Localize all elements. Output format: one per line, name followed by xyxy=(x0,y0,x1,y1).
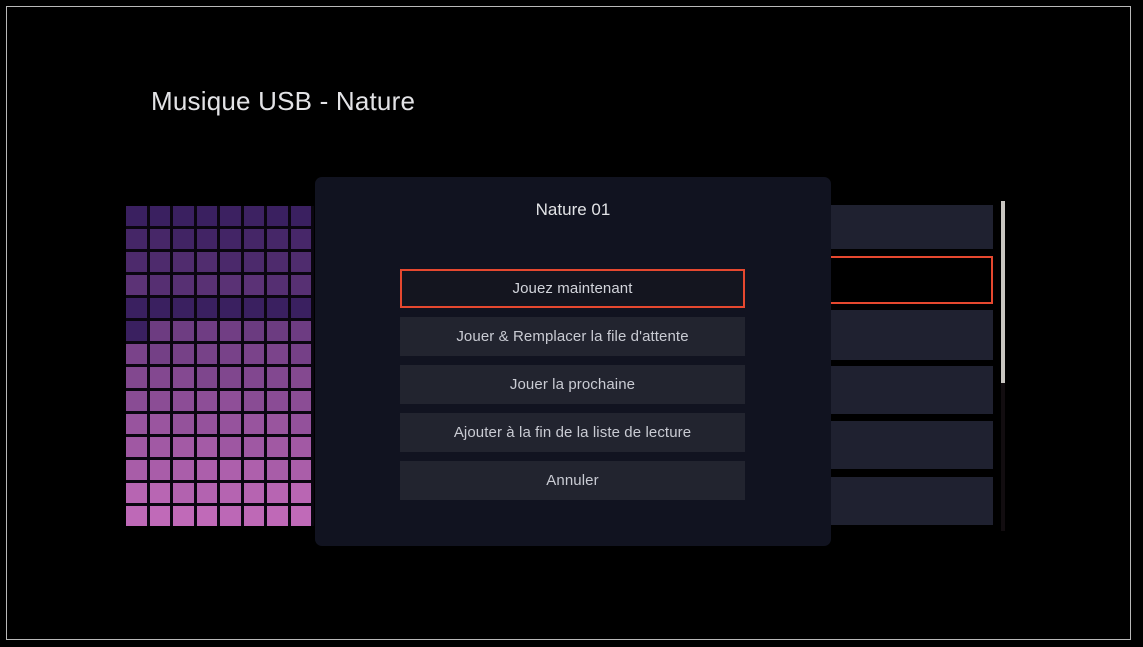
track-action-dialog: Nature 01 Jouez maintenantJouer & Rempla… xyxy=(315,177,831,546)
album-artwork-tile xyxy=(150,367,171,387)
album-artwork-tile xyxy=(244,437,265,457)
album-artwork-tile xyxy=(150,298,171,318)
window-frame-bottom-border xyxy=(7,639,1131,640)
album-artwork-tile xyxy=(173,506,194,526)
album-artwork-tile xyxy=(126,321,147,341)
album-artwork-tile xyxy=(220,321,241,341)
album-artwork-tile xyxy=(126,437,147,457)
album-artwork-tile xyxy=(126,506,147,526)
album-artwork-tile xyxy=(197,229,218,249)
album-artwork-tile xyxy=(220,275,241,295)
album-artwork-tile xyxy=(220,367,241,387)
album-artwork-tile xyxy=(267,298,288,318)
album-artwork-tile xyxy=(244,298,265,318)
album-artwork-tile xyxy=(244,206,265,226)
album-artwork-tile xyxy=(173,460,194,480)
album-artwork-tile xyxy=(197,437,218,457)
page-title: Musique USB - Nature xyxy=(151,86,415,117)
dialog-title: Nature 01 xyxy=(315,200,831,220)
album-artwork-tile xyxy=(220,437,241,457)
album-artwork-tile xyxy=(173,206,194,226)
album-artwork-tile xyxy=(173,437,194,457)
album-artwork-tile xyxy=(267,391,288,411)
album-artwork-tile xyxy=(220,298,241,318)
dialog-action-2[interactable]: Jouer & Remplacer la file d'attente xyxy=(400,317,745,356)
album-artwork-tile xyxy=(220,414,241,434)
album-artwork-tile xyxy=(291,252,312,272)
album-artwork-tile xyxy=(150,344,171,364)
window-frame-top-border xyxy=(7,6,1131,7)
album-artwork-tile xyxy=(267,506,288,526)
track-list-scrollbar-thumb[interactable] xyxy=(1001,201,1005,383)
album-artwork-tile xyxy=(197,367,218,387)
album-artwork-tile xyxy=(220,460,241,480)
album-artwork-tile xyxy=(150,483,171,503)
dialog-action-4[interactable]: Ajouter à la fin de la liste de lecture xyxy=(400,413,745,452)
album-artwork-tile xyxy=(150,321,171,341)
album-artwork-tile xyxy=(126,206,147,226)
album-artwork-tile xyxy=(291,206,312,226)
album-artwork-tile xyxy=(267,229,288,249)
album-artwork-tile xyxy=(291,483,312,503)
album-artwork-tile xyxy=(126,229,147,249)
tv-app-screen: Musique USB - Nature Nature 01 Jouez mai… xyxy=(0,0,1143,647)
album-artwork-tile xyxy=(173,252,194,272)
album-artwork-tile xyxy=(267,460,288,480)
album-artwork-tile xyxy=(150,414,171,434)
album-artwork-tile xyxy=(244,460,265,480)
album-artwork-tile xyxy=(291,367,312,387)
album-artwork-tile xyxy=(244,321,265,341)
album-artwork-tile xyxy=(126,367,147,387)
album-artwork-tile xyxy=(244,367,265,387)
album-artwork-tile xyxy=(244,391,265,411)
album-artwork-tile xyxy=(173,483,194,503)
album-artwork-tile xyxy=(220,506,241,526)
album-artwork-tile xyxy=(173,367,194,387)
album-artwork-tile xyxy=(197,275,218,295)
album-artwork-tile xyxy=(244,275,265,295)
album-artwork-tile xyxy=(173,229,194,249)
album-artwork-tile xyxy=(220,344,241,364)
album-artwork-tile xyxy=(220,206,241,226)
album-artwork-tile xyxy=(197,206,218,226)
album-artwork-tile xyxy=(197,252,218,272)
album-artwork xyxy=(126,206,314,526)
album-artwork-tile xyxy=(220,391,241,411)
album-artwork-tile xyxy=(150,252,171,272)
album-artwork-tile xyxy=(291,506,312,526)
album-artwork-tile xyxy=(126,298,147,318)
album-artwork-tile xyxy=(244,483,265,503)
album-artwork-tile xyxy=(173,298,194,318)
album-artwork-tile xyxy=(267,367,288,387)
dialog-action-list: Jouez maintenantJouer & Remplacer la fil… xyxy=(400,269,745,509)
album-artwork-tile xyxy=(291,414,312,434)
album-artwork-tile xyxy=(291,344,312,364)
dialog-action-1[interactable]: Jouez maintenant xyxy=(400,269,745,308)
album-artwork-tile xyxy=(197,298,218,318)
album-artwork-tile xyxy=(267,344,288,364)
album-artwork-tile xyxy=(267,321,288,341)
album-artwork-tile xyxy=(267,252,288,272)
album-artwork-tile xyxy=(291,460,312,480)
album-artwork-tile xyxy=(197,414,218,434)
album-artwork-tile xyxy=(126,460,147,480)
album-artwork-tile xyxy=(126,483,147,503)
album-artwork-tile xyxy=(173,391,194,411)
album-artwork-tile xyxy=(150,391,171,411)
track-list-scrollbar[interactable] xyxy=(1001,201,1005,531)
album-artwork-tile xyxy=(197,506,218,526)
album-artwork-tile xyxy=(291,275,312,295)
album-artwork-tile xyxy=(267,414,288,434)
album-artwork-tile xyxy=(150,229,171,249)
album-artwork-tile xyxy=(150,206,171,226)
album-artwork-tile xyxy=(150,275,171,295)
album-artwork-tile xyxy=(126,414,147,434)
album-artwork-tile xyxy=(291,391,312,411)
album-artwork-tile xyxy=(291,229,312,249)
album-artwork-tile xyxy=(126,252,147,272)
album-artwork-tile xyxy=(197,391,218,411)
album-artwork-grid xyxy=(126,206,314,526)
dialog-action-3[interactable]: Jouer la prochaine xyxy=(400,365,745,404)
album-artwork-tile xyxy=(173,414,194,434)
album-artwork-tile xyxy=(126,275,147,295)
album-artwork-tile xyxy=(197,321,218,341)
album-artwork-tile xyxy=(267,483,288,503)
album-artwork-tile xyxy=(244,252,265,272)
album-artwork-tile xyxy=(173,321,194,341)
album-artwork-tile xyxy=(291,321,312,341)
album-artwork-tile xyxy=(244,229,265,249)
album-artwork-tile xyxy=(197,460,218,480)
album-artwork-tile xyxy=(220,252,241,272)
album-artwork-tile xyxy=(197,483,218,503)
album-artwork-tile xyxy=(126,391,147,411)
album-artwork-tile xyxy=(291,298,312,318)
album-artwork-tile xyxy=(173,275,194,295)
dialog-action-5[interactable]: Annuler xyxy=(400,461,745,500)
album-artwork-tile xyxy=(173,344,194,364)
album-artwork-tile xyxy=(150,506,171,526)
album-artwork-tile xyxy=(291,437,312,457)
album-artwork-tile xyxy=(126,344,147,364)
window-frame-right-border xyxy=(1130,6,1131,640)
album-artwork-tile xyxy=(267,275,288,295)
album-artwork-tile xyxy=(197,344,218,364)
album-artwork-tile xyxy=(220,229,241,249)
album-artwork-tile xyxy=(220,483,241,503)
album-artwork-tile xyxy=(150,437,171,457)
album-artwork-tile xyxy=(244,506,265,526)
album-artwork-tile xyxy=(267,206,288,226)
album-artwork-tile xyxy=(150,460,171,480)
album-artwork-tile xyxy=(267,437,288,457)
album-artwork-tile xyxy=(244,414,265,434)
album-artwork-tile xyxy=(244,344,265,364)
window-frame-left-border xyxy=(6,6,7,640)
